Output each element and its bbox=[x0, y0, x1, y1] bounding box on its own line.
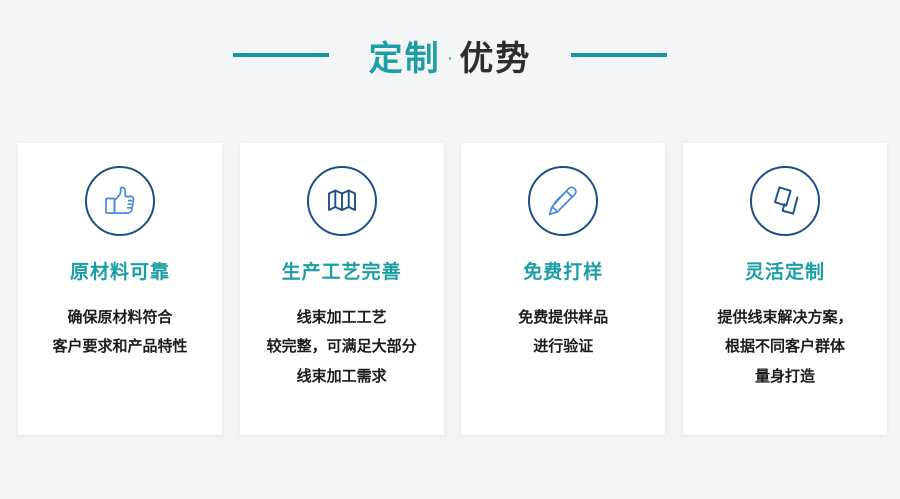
description-line: 线束加工工艺 bbox=[247, 303, 437, 332]
description-line: 较完整，可满足大部分 bbox=[247, 332, 437, 361]
page-title-primary: 定制 bbox=[369, 31, 441, 80]
feature-card[interactable]: 原材料可靠 确保原材料符合 客户要求和产品特性 bbox=[18, 143, 222, 435]
feature-card[interactable]: 灵活定制 提供线束解决方案， 根据不同客户群体 量身打造 bbox=[683, 143, 887, 435]
feature-card-title: 原材料可靠 bbox=[70, 263, 170, 282]
feature-card-description: 提供线束解决方案， 根据不同客户群体 量身打造 bbox=[690, 303, 880, 391]
feature-card-description: 确保原材料符合 客户要求和产品特性 bbox=[25, 303, 215, 362]
feature-card[interactable]: 免费打样 免费提供样品 进行验证 bbox=[461, 143, 665, 435]
description-line: 量身打造 bbox=[690, 362, 880, 391]
feature-card-description: 线束加工工艺 较完整，可满足大部分 线束加工需求 bbox=[247, 303, 437, 391]
feature-card[interactable]: 生产工艺完善 线束加工工艺 较完整，可满足大部分 线束加工需求 bbox=[240, 143, 444, 435]
folded-map-icon bbox=[307, 166, 377, 236]
feature-card-title: 生产工艺完善 bbox=[282, 263, 402, 282]
divider-line-left bbox=[233, 53, 329, 57]
description-line: 进行验证 bbox=[468, 332, 658, 361]
description-line: 客户要求和产品特性 bbox=[25, 332, 215, 361]
feature-card-list: 原材料可靠 确保原材料符合 客户要求和产品特性 生产工艺完善 线束加工工艺 较完… bbox=[18, 143, 887, 435]
description-line: 提供线束解决方案， bbox=[690, 303, 880, 332]
page-title-secondary: 优势 bbox=[459, 31, 531, 80]
description-line: 根据不同客户群体 bbox=[690, 332, 880, 361]
description-line: 免费提供样品 bbox=[468, 303, 658, 332]
feature-card-title: 免费打样 bbox=[523, 263, 603, 282]
feature-card-description: 免费提供样品 进行验证 bbox=[468, 303, 658, 362]
feature-card-title: 灵活定制 bbox=[745, 263, 825, 282]
title-separator-dot: · bbox=[447, 47, 454, 70]
stacked-cards-icon bbox=[750, 166, 820, 236]
pencil-icon bbox=[528, 166, 598, 236]
section-header: 定制 · 优势 bbox=[0, 0, 900, 110]
description-line: 线束加工需求 bbox=[247, 362, 437, 391]
page-title: 定制 · 优势 bbox=[369, 31, 532, 80]
divider-line-right bbox=[571, 53, 667, 57]
thumbs-up-icon bbox=[85, 166, 155, 236]
description-line: 确保原材料符合 bbox=[25, 303, 215, 332]
